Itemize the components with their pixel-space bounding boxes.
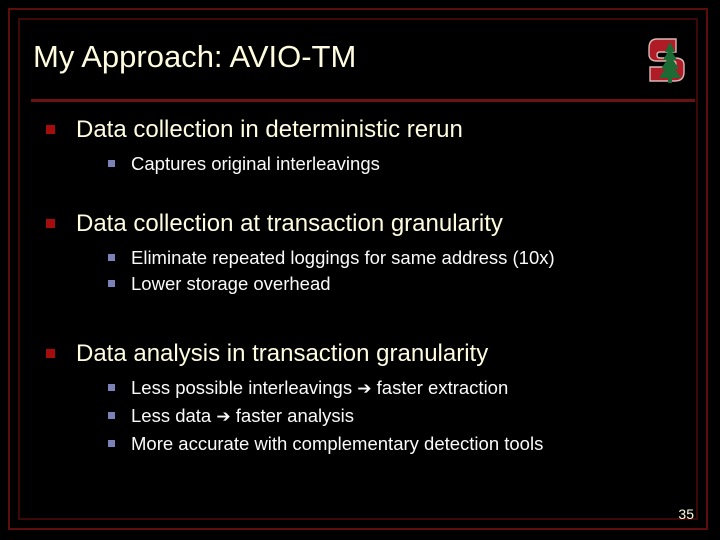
page-title: My Approach: AVIO-TM [33, 38, 633, 76]
stanford-logo-icon [645, 31, 689, 89]
content-group: Data analysis in transaction granularity… [46, 338, 686, 456]
level1-bullet-text: Data analysis in transaction granularity [76, 338, 488, 369]
level2-bullet-text: Lower storage overhead [131, 271, 331, 296]
level2-bullet-item: More accurate with complementary detecti… [108, 431, 686, 456]
level2-text-after: faster analysis [231, 405, 354, 426]
level2-text-after: faster extraction [372, 377, 509, 398]
level2-bullet-text: Less data ➔ faster analysis [131, 403, 354, 430]
slide-body: Data collection in deterministic rerun C… [46, 114, 686, 457]
level2-bullet-text: More accurate with complementary detecti… [131, 431, 543, 456]
level2-bullet-item: Less data ➔ faster analysis [108, 403, 686, 430]
right-arrow-icon: ➔ [216, 407, 230, 427]
bullet-square-level2-icon [108, 280, 115, 287]
level1-bullet-text: Data collection in deterministic rerun [76, 114, 463, 145]
level2-bullet-text: Captures original interleavings [131, 151, 380, 176]
level1-bullet-item: Data analysis in transaction granularity [46, 338, 686, 369]
level2-bullet-item: Less possible interleavings ➔ faster ext… [108, 375, 686, 402]
level2-text-before: Less possible interleavings [131, 377, 357, 398]
bullet-square-level2-icon [108, 384, 115, 391]
group-spacer [46, 312, 686, 338]
bullet-square-level2-icon [108, 440, 115, 447]
page-number: 35 [678, 506, 694, 522]
bullet-square-level2-icon [108, 412, 115, 419]
right-arrow-icon: ➔ [357, 379, 371, 399]
level2-text-before: Less data [131, 405, 216, 426]
bullet-square-level1-icon [46, 219, 55, 228]
level2-bullet-item: Lower storage overhead [108, 271, 686, 296]
level1-bullet-text: Data collection at transaction granulari… [76, 208, 503, 239]
bullet-square-level1-icon [46, 349, 55, 358]
content-group: Data collection in deterministic rerun C… [46, 114, 686, 176]
level2-bullet-text: Eliminate repeated loggings for same add… [131, 245, 555, 270]
title-divider [31, 99, 695, 102]
level2-bullet-item: Eliminate repeated loggings for same add… [108, 245, 686, 270]
level2-bullet-item: Captures original interleavings [108, 151, 686, 176]
level2-bullet-text: Less possible interleavings ➔ faster ext… [131, 375, 508, 402]
bullet-square-level2-icon [108, 254, 115, 261]
bullet-square-level2-icon [108, 160, 115, 167]
presentation-slide: My Approach: AVIO-TM Data collection in … [0, 0, 720, 540]
content-group: Data collection at transaction granulari… [46, 208, 686, 296]
level1-bullet-item: Data collection at transaction granulari… [46, 208, 686, 239]
bullet-square-level1-icon [46, 125, 55, 134]
level1-bullet-item: Data collection in deterministic rerun [46, 114, 686, 145]
group-spacer [46, 192, 686, 208]
